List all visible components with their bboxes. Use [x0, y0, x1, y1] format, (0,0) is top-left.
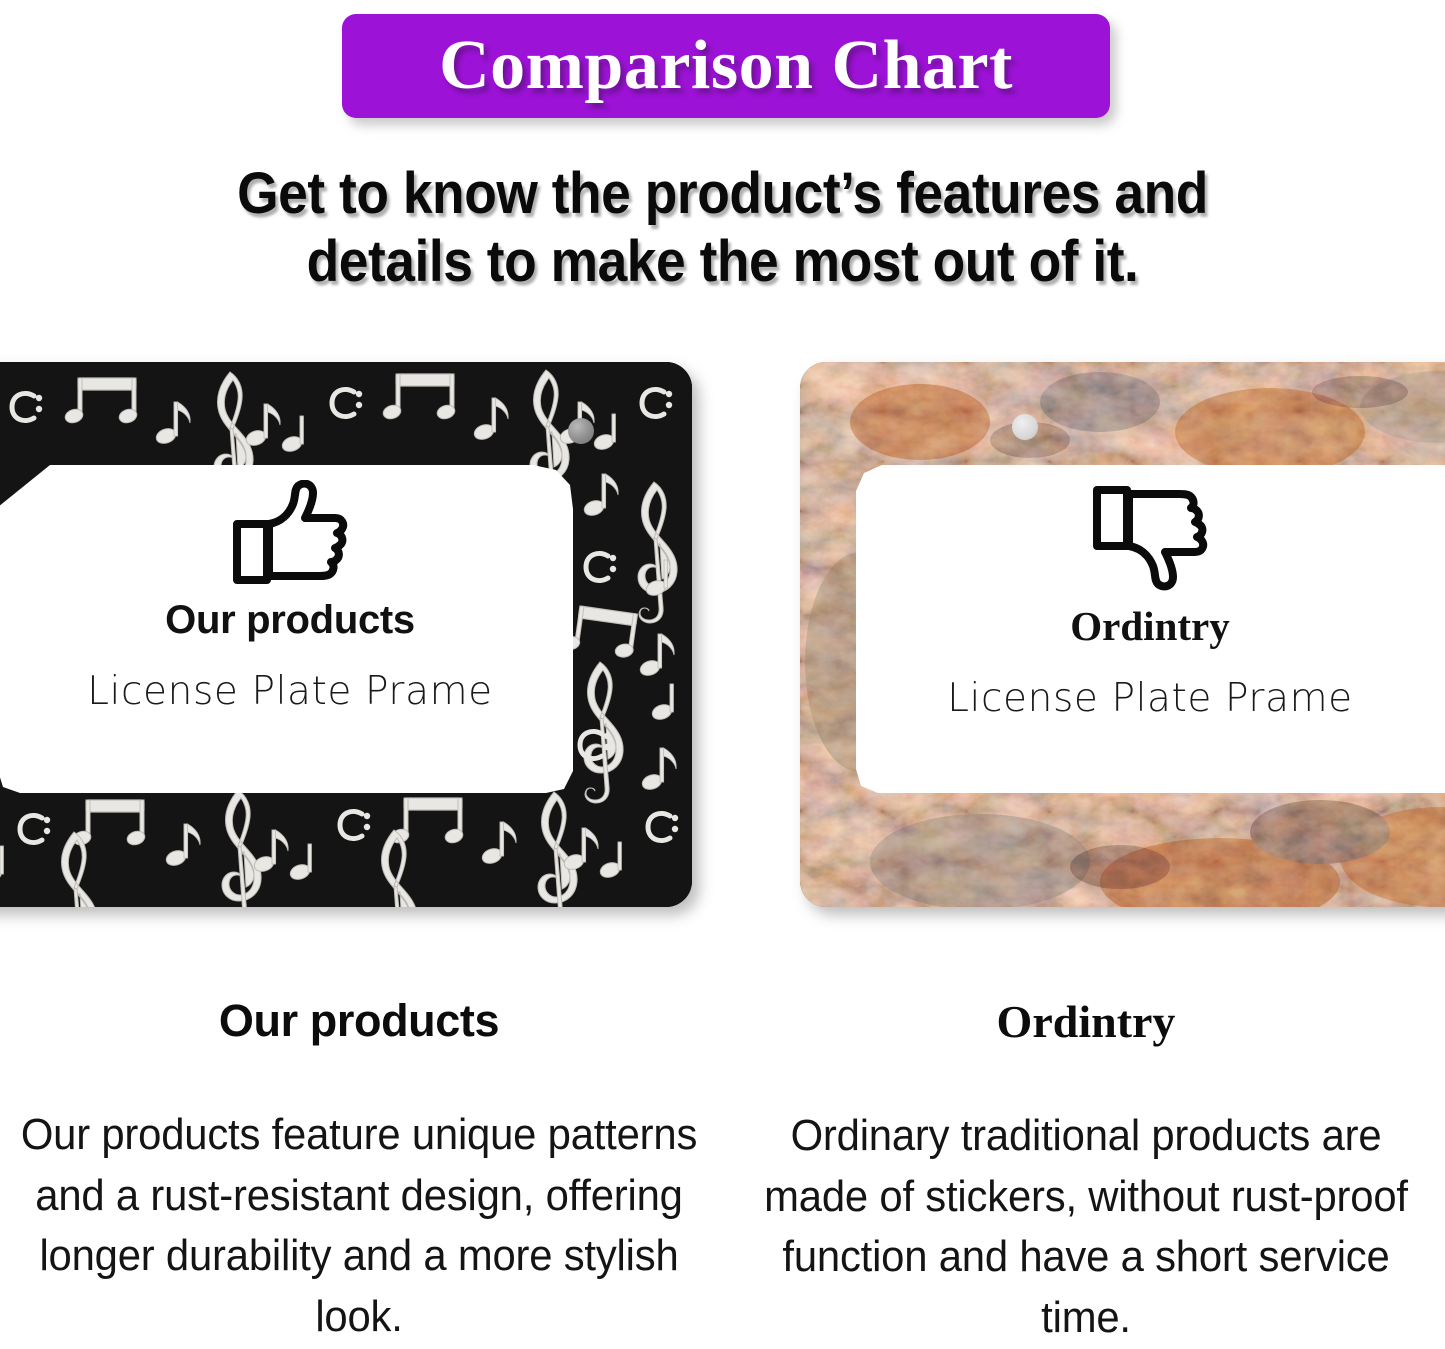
subtitle-line-2: details to make the most out of it. [58, 228, 1387, 296]
comparison-chart-banner: Comparison Chart [342, 14, 1110, 118]
right-column-heading: Ordintry [727, 995, 1445, 1048]
right-inner-subtitle: License Plate Prame [880, 676, 1420, 721]
left-inner-subtitle: License Plate Prame [0, 669, 580, 714]
left-column-heading: Our products [0, 995, 718, 1047]
ordinary-products-column: Ordintry Ordinary traditional products a… [727, 995, 1445, 1349]
left-frame-mounting-hole [568, 418, 594, 444]
thumbs-down-icon [1091, 480, 1209, 592]
thumbs-up-icon [231, 480, 349, 588]
our-product-inner-label: Our products License Plate Prame [0, 480, 580, 714]
page-subtitle: Get to know the product’s features and d… [58, 160, 1387, 297]
right-column-body: Ordinary traditional products are made o… [745, 1106, 1427, 1349]
page-title: Comparison Chart [439, 31, 1013, 101]
our-products-column: Our products Our products feature unique… [0, 995, 718, 1348]
ordinary-product-inner-label: Ordintry License Plate Prame [880, 480, 1420, 721]
left-inner-title: Our products [0, 598, 580, 643]
right-inner-title: Ordintry [880, 602, 1420, 650]
left-column-body: Our products feature unique patterns and… [18, 1105, 700, 1348]
subtitle-line-1: Get to know the product’s features and [58, 160, 1387, 228]
right-frame-mounting-hole [1012, 414, 1038, 440]
